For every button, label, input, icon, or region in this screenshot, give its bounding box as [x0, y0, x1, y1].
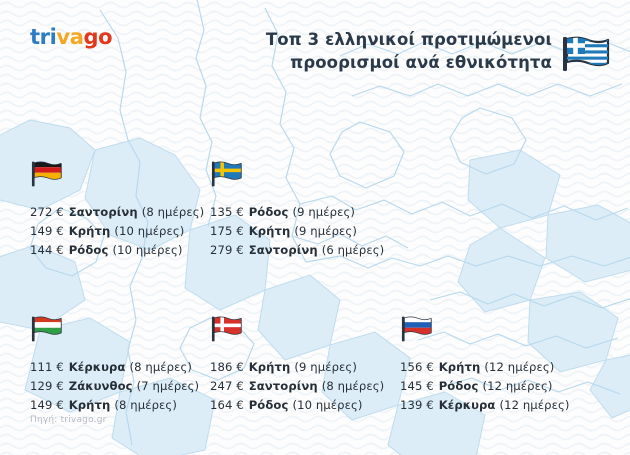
- list-item: 247 €Σαντορίνη(8 ημέρες): [210, 377, 388, 396]
- page-title: Τοπ 3 ελληνικοί προτιμώμενοι προορισμοί …: [222, 28, 552, 75]
- price: 175 €: [210, 224, 244, 238]
- country-block-hungary: 111 €Κέρκυρα(8 ημέρες) 129 €Ζάκυνθος(7 η…: [0, 315, 194, 415]
- infographic-canvas: trivago Τοπ 3 ελληνικοί προτιμώμενοι προ…: [0, 0, 630, 455]
- price: 164 €: [210, 398, 244, 412]
- hungary-flag-icon: [30, 315, 64, 343]
- destination-list: 272 €Σαντορίνη(8 ημέρες) 149 €Κρήτη(10 η…: [30, 203, 194, 260]
- price: 145 €: [400, 379, 434, 393]
- duration: (9 ημέρες): [290, 224, 357, 238]
- list-item: 144 €Ρόδος(10 ημέρες): [30, 241, 194, 260]
- price: 149 €: [30, 224, 64, 238]
- greece-flag-icon: [560, 34, 612, 74]
- destination: Κρήτη: [244, 224, 291, 238]
- duration: (12 ημέρες): [480, 360, 554, 374]
- source-note: Πηγή: trivago.gr: [30, 415, 107, 425]
- country-block-germany: 272 €Σαντορίνη(8 ημέρες) 149 €Κρήτη(10 η…: [0, 160, 194, 260]
- list-item: 272 €Σαντορίνη(8 ημέρες): [30, 203, 194, 222]
- price: 186 €: [210, 360, 244, 374]
- list-item: 156 €Κρήτη(12 ημέρες): [400, 358, 588, 377]
- destination: Κρήτη: [244, 360, 291, 374]
- price: 247 €: [210, 379, 244, 393]
- list-item: 149 €Κρήτη(8 ημέρες): [30, 396, 194, 415]
- price: 272 €: [30, 205, 64, 219]
- destination-list: 156 €Κρήτη(12 ημέρες) 145 €Ρόδος(12 ημέρ…: [400, 358, 588, 415]
- destination: Ρόδος: [434, 379, 479, 393]
- country-block-russia: 156 €Κρήτη(12 ημέρες) 145 €Ρόδος(12 ημέρ…: [388, 315, 588, 415]
- destination-list: 111 €Κέρκυρα(8 ημέρες) 129 €Ζάκυνθος(7 η…: [30, 358, 194, 415]
- destination: Ρόδος: [64, 243, 109, 257]
- duration: (7 ημέρες): [133, 379, 200, 393]
- block-row-2: 111 €Κέρκυρα(8 ημέρες) 129 €Ζάκυνθος(7 η…: [0, 315, 630, 415]
- destination: Σαντορίνη: [244, 379, 318, 393]
- list-item: 186 €Κρήτη(9 ημέρες): [210, 358, 388, 377]
- country-block-denmark: 186 €Κρήτη(9 ημέρες) 247 €Σαντορίνη(8 ημ…: [194, 315, 388, 415]
- list-item: 175 €Κρήτη(9 ημέρες): [210, 222, 388, 241]
- duration: (8 ημέρες): [318, 379, 385, 393]
- list-item: 145 €Ρόδος(12 ημέρες): [400, 377, 588, 396]
- destination: Κρήτη: [434, 360, 481, 374]
- duration: (10 ημέρες): [108, 243, 182, 257]
- page-title-line-1: Τοπ 3 ελληνικοί προτιμώμενοι: [222, 28, 552, 51]
- destination-blocks: 272 €Σαντορίνη(8 ημέρες) 149 €Κρήτη(10 η…: [0, 160, 630, 415]
- duration: (9 ημέρες): [288, 205, 355, 219]
- destination: Κρήτη: [64, 224, 111, 238]
- germany-flag-icon: [30, 160, 64, 188]
- destination: Κρήτη: [64, 398, 111, 412]
- destination-list: 186 €Κρήτη(9 ημέρες) 247 €Σαντορίνη(8 ημ…: [210, 358, 388, 415]
- block-row-1: 272 €Σαντορίνη(8 ημέρες) 149 €Κρήτη(10 η…: [0, 160, 630, 260]
- destination: Ρόδος: [244, 205, 289, 219]
- logo-part-go: go: [83, 25, 112, 49]
- logo-part-va: va: [56, 25, 83, 49]
- destination: Ρόδος: [244, 398, 289, 412]
- trivago-logo[interactable]: trivago: [30, 27, 112, 48]
- country-block-sweden: 135 €Ρόδος(9 ημέρες) 175 €Κρήτη(9 ημέρες…: [194, 160, 388, 260]
- duration: (8 ημέρες): [110, 398, 177, 412]
- destination-list: 135 €Ρόδος(9 ημέρες) 175 €Κρήτη(9 ημέρες…: [210, 203, 388, 260]
- sweden-flag-icon: [210, 160, 244, 188]
- price: 111 €: [30, 360, 64, 374]
- price: 135 €: [210, 205, 244, 219]
- destination: Σαντορίνη: [244, 243, 318, 257]
- list-item: 164 €Ρόδος(10 ημέρες): [210, 396, 388, 415]
- duration: (10 ημέρες): [110, 224, 184, 238]
- duration: (12 ημέρες): [495, 398, 569, 412]
- price: 156 €: [400, 360, 434, 374]
- list-item: 139 €Κέρκυρα(12 ημέρες): [400, 396, 588, 415]
- russia-flag-icon: [400, 315, 434, 343]
- price: 279 €: [210, 243, 244, 257]
- list-item: 129 €Ζάκυνθος(7 ημέρες): [30, 377, 194, 396]
- duration: (9 ημέρες): [290, 360, 357, 374]
- logo-part-tri: tri: [30, 25, 56, 49]
- duration: (6 ημέρες): [318, 243, 385, 257]
- price: 139 €: [400, 398, 434, 412]
- price: 129 €: [30, 379, 64, 393]
- price: 144 €: [30, 243, 64, 257]
- page-title-line-2: προορισμοί ανά εθνικότητα: [222, 51, 552, 74]
- destination: Ζάκυνθος: [64, 379, 133, 393]
- duration: (8 ημέρες): [125, 360, 192, 374]
- price: 149 €: [30, 398, 64, 412]
- denmark-flag-icon: [210, 315, 244, 343]
- duration: (10 ημέρες): [288, 398, 362, 412]
- list-item: 149 €Κρήτη(10 ημέρες): [30, 222, 194, 241]
- duration: (12 ημέρες): [478, 379, 552, 393]
- destination: Σαντορίνη: [64, 205, 138, 219]
- destination: Κέρκυρα: [434, 398, 496, 412]
- list-item: 279 €Σαντορίνη(6 ημέρες): [210, 241, 388, 260]
- destination: Κέρκυρα: [64, 360, 126, 374]
- list-item: 135 €Ρόδος(9 ημέρες): [210, 203, 388, 222]
- list-item: 111 €Κέρκυρα(8 ημέρες): [30, 358, 194, 377]
